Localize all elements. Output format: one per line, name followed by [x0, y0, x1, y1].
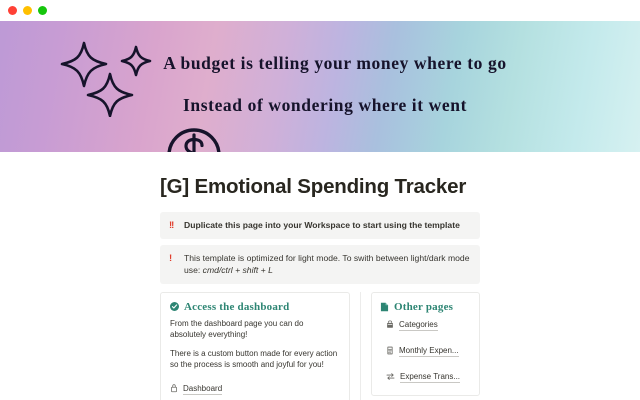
link-row-expense-transactions-label: Expense Trans...: [400, 371, 460, 383]
card-other-pages-header: Other pages: [380, 301, 471, 313]
monthly-expenses-database-icon: [386, 346, 394, 355]
link-row-monthly-expenses-label: Monthly Expen...: [399, 345, 459, 357]
cover-quote: A budget is telling your money where to …: [0, 21, 640, 116]
link-row-monthly-expenses[interactable]: Monthly Expen...: [386, 345, 471, 357]
card-access-dashboard-header: Access the dashboard: [170, 301, 340, 313]
window-minimize-button[interactable]: [23, 6, 32, 15]
page-cover-banner: A budget is telling your money where to …: [0, 21, 640, 152]
green-check-circle-icon: [170, 302, 179, 311]
callout-light-mode-shortcut: cmd/ctrl + shift + L: [203, 265, 273, 275]
link-row-categories[interactable]: Categories: [386, 319, 471, 331]
window-titlebar: [0, 0, 640, 21]
window-maximize-button[interactable]: [38, 6, 47, 15]
browser-window: A budget is telling your money where to …: [0, 0, 640, 400]
other-pages-link-list: Categories: [380, 319, 471, 383]
expense-transactions-database-icon: [386, 372, 395, 381]
card-access-dashboard: Access the dashboard From the dashboard …: [160, 292, 350, 400]
exclamation-icon: !: [169, 252, 184, 265]
callout-duplicate-text: Duplicate this page into your Workspace …: [184, 219, 460, 232]
callout-duplicate-template[interactable]: !! Duplicate this page into your Workspa…: [160, 212, 480, 239]
column-right: Other pages: [360, 292, 480, 400]
card-access-dashboard-paragraph-1: From the dashboard page you can do absol…: [170, 318, 340, 341]
green-document-icon: [380, 302, 389, 312]
card-access-dashboard-paragraph-2: There is a custom button made for every …: [170, 348, 340, 371]
callout-light-mode-body: This template is optimized for light mod…: [184, 252, 471, 277]
dollar-coin-icon: [165, 126, 223, 152]
dashboard-page-link[interactable]: Dashboard: [170, 383, 340, 395]
cover-quote-line-1: A budget is telling your money where to …: [30, 54, 640, 73]
card-access-dashboard-title: Access the dashboard: [184, 301, 289, 313]
page-content: [G] Emotional Spending Tracker !! Duplic…: [0, 175, 640, 400]
categories-database-icon: [386, 320, 394, 329]
dashboard-page-link-label: Dashboard: [183, 383, 222, 395]
dashboard-page-icon: [170, 384, 178, 393]
card-other-pages: Other pages: [371, 292, 480, 396]
link-row-expense-transactions[interactable]: Expense Trans...: [386, 371, 471, 383]
double-exclamation-icon: !!: [169, 219, 184, 232]
column-left: Access the dashboard From the dashboard …: [160, 292, 360, 400]
window-close-button[interactable]: [8, 6, 17, 15]
cover-quote-line-2: Instead of wondering where it went: [10, 96, 640, 115]
columns-layout: Access the dashboard From the dashboard …: [160, 292, 480, 400]
page-title: [G] Emotional Spending Tracker: [160, 175, 480, 199]
callout-light-mode[interactable]: ! This template is optimized for light m…: [160, 245, 480, 284]
link-row-categories-label: Categories: [399, 319, 438, 331]
card-other-pages-title: Other pages: [394, 301, 453, 313]
